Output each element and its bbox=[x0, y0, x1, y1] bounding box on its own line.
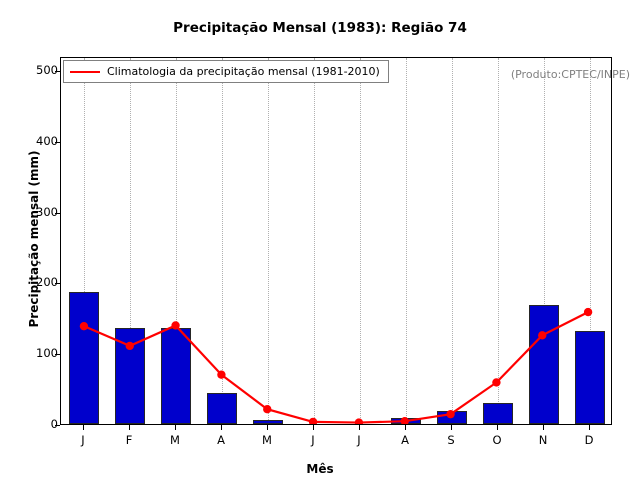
climatology-line-series bbox=[61, 58, 611, 424]
climatology-point-A-7 bbox=[401, 417, 409, 425]
climatology-point-M-4 bbox=[263, 405, 271, 413]
x-tick-label-M-2: M bbox=[160, 433, 190, 447]
x-tick-label-N-10: N bbox=[528, 433, 558, 447]
x-tick-label-O-9: O bbox=[482, 433, 512, 447]
legend-item-label: Climatologia da precipitação mensal (198… bbox=[107, 65, 380, 78]
x-tick-mark-J-5 bbox=[313, 425, 314, 430]
climatology-point-J-0 bbox=[80, 322, 88, 330]
x-tick-label-J-0: J bbox=[68, 433, 98, 447]
climatology-polyline bbox=[84, 312, 588, 423]
x-tick-label-J-5: J bbox=[298, 433, 328, 447]
x-axis-label: Mês bbox=[0, 462, 640, 476]
climatology-markers bbox=[80, 308, 593, 425]
x-tick-mark-M-4 bbox=[267, 425, 268, 430]
climatology-point-J-5 bbox=[309, 418, 317, 425]
x-tick-label-D-11: D bbox=[574, 433, 604, 447]
y-tick-label-500: 500 bbox=[18, 63, 58, 77]
x-tick-mark-J-0 bbox=[83, 425, 84, 430]
chart-figure: Precipitação Mensal (1983): Região 74 01… bbox=[0, 0, 640, 500]
x-tick-mark-D-11 bbox=[589, 425, 590, 430]
credit-annotation: (Produto:CPTEC/INPE) bbox=[511, 68, 630, 81]
x-tick-mark-F-1 bbox=[129, 425, 130, 430]
climatology-point-O-9 bbox=[492, 378, 500, 386]
x-tick-mark-J-6 bbox=[359, 425, 360, 430]
x-tick-mark-S-8 bbox=[451, 425, 452, 430]
climatology-point-M-2 bbox=[171, 321, 179, 329]
legend: Climatologia da precipitação mensal (198… bbox=[63, 60, 389, 83]
x-tick-mark-O-9 bbox=[497, 425, 498, 430]
climatology-point-D-11 bbox=[584, 308, 592, 316]
x-tick-label-A-3: A bbox=[206, 433, 236, 447]
x-tick-label-J-6: J bbox=[344, 433, 374, 447]
x-tick-label-S-8: S bbox=[436, 433, 466, 447]
y-axis-label: Precipitação mensal (mm) bbox=[27, 109, 41, 369]
x-tick-label-F-1: F bbox=[114, 433, 144, 447]
climatology-point-N-10 bbox=[538, 331, 546, 339]
x-tick-mark-A-7 bbox=[405, 425, 406, 430]
legend-line-swatch bbox=[70, 71, 100, 73]
climatology-point-F-1 bbox=[126, 342, 134, 350]
x-tick-mark-N-10 bbox=[543, 425, 544, 430]
page-title: Precipitação Mensal (1983): Região 74 bbox=[0, 20, 640, 36]
plot-area bbox=[60, 57, 612, 425]
climatology-point-S-8 bbox=[446, 410, 454, 418]
x-tick-mark-A-3 bbox=[221, 425, 222, 430]
climatology-point-A-3 bbox=[217, 371, 225, 379]
x-tick-label-A-7: A bbox=[390, 433, 420, 447]
climatology-point-J-6 bbox=[355, 418, 363, 425]
y-tick-label-0: 0 bbox=[18, 417, 58, 431]
x-tick-label-M-4: M bbox=[252, 433, 282, 447]
x-tick-mark-M-2 bbox=[175, 425, 176, 430]
